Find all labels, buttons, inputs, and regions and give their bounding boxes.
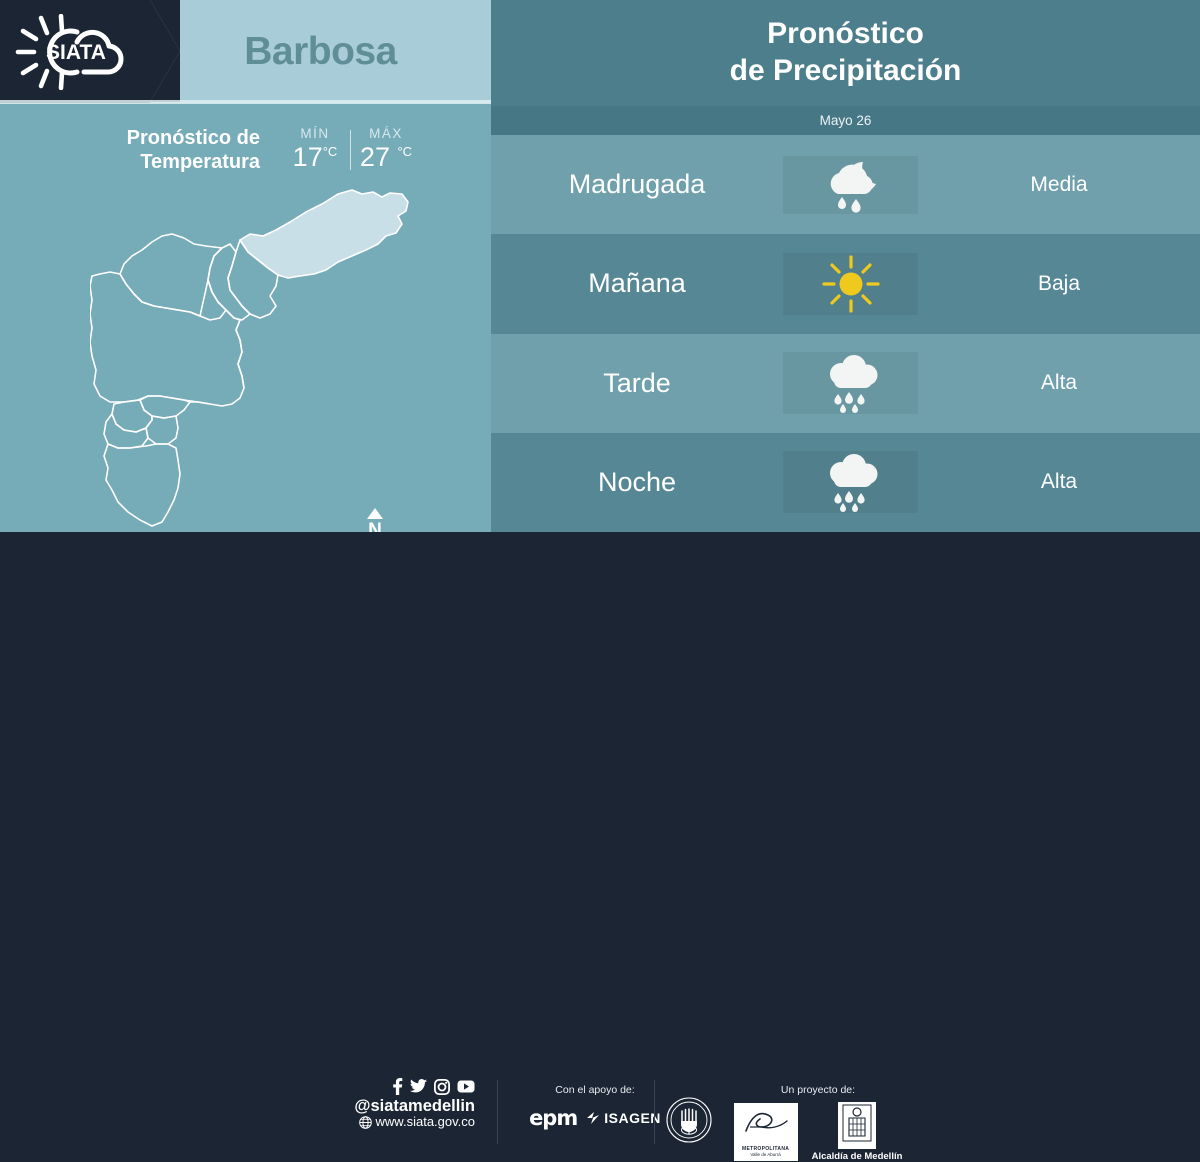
- sun-cloud-icon: SIATA: [14, 14, 136, 90]
- project-block: Un proyecto de: METROPOLITANA Valle de A…: [718, 1084, 918, 1162]
- alcaldia-logo: Alcaldía de Medellín: [812, 1102, 903, 1162]
- valle-de-aburra-map: N: [90, 178, 435, 530]
- period-label: Noche: [491, 467, 783, 498]
- amva-logo: METROPOLITANA Valle de Aburrá: [734, 1103, 798, 1161]
- isagen-mark-icon: [587, 1112, 601, 1124]
- period-label: Madrugada: [491, 169, 783, 200]
- social-handle[interactable]: @siatamedellin: [330, 1097, 475, 1115]
- map-region-sabaneta: [146, 416, 178, 444]
- table-row: Madrugada Media: [491, 135, 1200, 234]
- table-row: Noche: [491, 433, 1200, 532]
- footer-divider-2: [654, 1080, 655, 1144]
- footer: @siatamedellin www.siata.gov.co Con el a…: [0, 532, 1200, 630]
- temperature-title: Pronóstico de Temperatura: [90, 126, 260, 175]
- page-title: Barbosa: [150, 0, 491, 103]
- left-divider: [0, 100, 491, 104]
- youtube-icon[interactable]: [457, 1080, 475, 1093]
- cloud-heavy-rain-icon: [783, 451, 918, 513]
- social-icons: [330, 1078, 475, 1095]
- map-region-la-estrella: [104, 414, 148, 448]
- temperature-title-line2: Temperatura: [90, 150, 260, 174]
- logo-text: SIATA: [46, 41, 106, 64]
- precipitation-level: Media: [918, 173, 1200, 197]
- website-link[interactable]: www.siata.gov.co: [330, 1115, 475, 1130]
- temperature-title-line1: Pronóstico de: [90, 126, 260, 150]
- precipitation-level: Alta: [918, 470, 1200, 494]
- temperature-min: MÍN 17°C: [282, 126, 348, 172]
- left-header: SIATA Barbosa: [0, 0, 491, 103]
- project-logos: METROPOLITANA Valle de Aburrá Alcaldía: [718, 1102, 918, 1162]
- temperature-separator: [350, 130, 351, 170]
- temperature-values: MÍN 17°C MÁX 27 °C: [282, 126, 419, 172]
- twitter-icon[interactable]: [410, 1079, 427, 1094]
- support-label: Con el apoyo de:: [520, 1084, 670, 1096]
- temperature-max: MÁX 27 °C: [353, 126, 419, 172]
- map-svg: [90, 178, 435, 530]
- left-panel: SIATA Barbosa Pronóstico de Temperatura …: [0, 0, 491, 532]
- project-label: Un proyecto de:: [718, 1084, 918, 1096]
- moon-cloud-rain-icon: [783, 156, 918, 214]
- infographic-root: SIATA Barbosa Pronóstico de Temperatura …: [0, 0, 1200, 630]
- precipitation-title-line2: de Precipitación: [730, 53, 962, 90]
- temperature-min-label: MÍN: [282, 126, 348, 141]
- table-row: Tarde: [491, 334, 1200, 433]
- cloud-heavy-rain-icon: [783, 352, 918, 414]
- footer-divider-1: [497, 1080, 498, 1144]
- precipitation-header: Pronóstico de Precipitación: [491, 0, 1200, 106]
- precipitation-title-line1: Pronóstico: [767, 16, 924, 53]
- facebook-icon[interactable]: [392, 1078, 403, 1095]
- compass-arrow-icon: [367, 508, 383, 519]
- epm-logo: epm: [529, 1106, 577, 1130]
- precipitation-level: Alta: [918, 371, 1200, 395]
- map-region-bello: [120, 234, 226, 320]
- support-logos: epm ISAGEN: [520, 1106, 670, 1130]
- globe-icon: [359, 1116, 372, 1129]
- precipitation-level: Baja: [918, 272, 1200, 296]
- amva-mark-icon: [740, 1107, 792, 1141]
- instagram-icon[interactable]: [434, 1079, 450, 1095]
- support-block: Con el apoyo de: epm ISAGEN: [520, 1084, 670, 1130]
- temperature-min-unit: °C: [323, 144, 338, 159]
- temperature-max-label: MÁX: [353, 126, 419, 141]
- forecast-date: Mayo 26: [820, 113, 872, 128]
- alcaldia-label: Alcaldía de Medellín: [812, 1151, 903, 1162]
- map-region-medellin: [90, 272, 244, 406]
- map-region-envigado: [140, 396, 190, 418]
- date-band: Mayo 26: [491, 106, 1200, 135]
- right-panel: Pronóstico de Precipitación Mayo 26 Madr…: [491, 0, 1200, 532]
- universidad-seal-icon: [666, 1097, 712, 1143]
- forecast-table: Madrugada Media Mañana: [491, 135, 1200, 532]
- temperature-max-value: 27 °C: [353, 143, 419, 171]
- temperature-min-value: 17°C: [282, 143, 348, 171]
- table-row: Mañana: [491, 234, 1200, 333]
- map-region-caldas: [104, 444, 180, 526]
- isagen-logo: ISAGEN: [587, 1110, 661, 1126]
- temperature-forecast: Pronóstico de Temperatura MÍN 17°C MÁX 2…: [90, 126, 419, 175]
- social-block: @siatamedellin www.siata.gov.co: [330, 1078, 475, 1130]
- period-label: Tarde: [491, 368, 783, 399]
- website-text: www.siata.gov.co: [376, 1115, 475, 1130]
- sun-icon: [783, 253, 918, 315]
- temperature-max-unit: °C: [397, 144, 412, 159]
- period-label: Mañana: [491, 268, 783, 299]
- alcaldia-mark-icon: [842, 1104, 872, 1142]
- amva-sub: Valle de Aburrá: [740, 1152, 792, 1157]
